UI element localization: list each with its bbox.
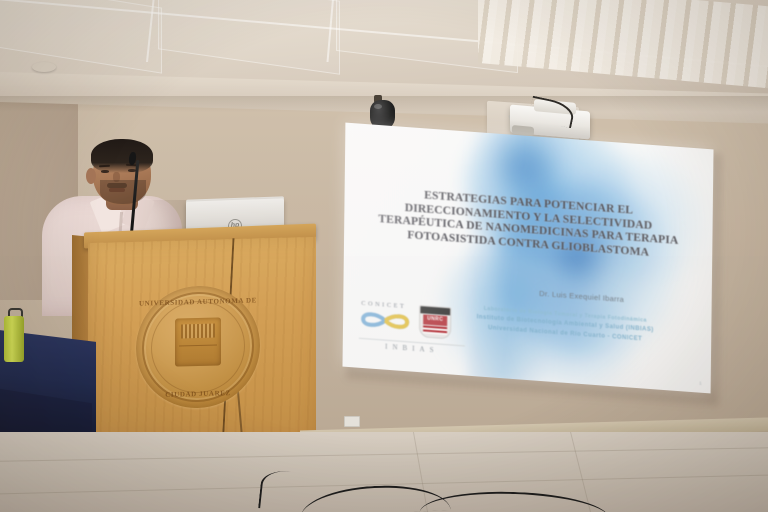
wall-outlet-icon: [344, 416, 360, 427]
shield-stripes: [423, 325, 447, 335]
unrc-shield-icon: UNRC: [419, 305, 451, 339]
corrugated-ceiling-panels: [478, 0, 768, 89]
inbias-wordmark: INBIAS: [359, 341, 465, 357]
floor-tile-line: [0, 447, 768, 461]
speaker-mouth: [109, 188, 125, 192]
seal-emblem-icon: [175, 317, 221, 366]
slide: ESTRATEGIAS PARA POTENCIAR EL DIRECCIONA…: [343, 123, 714, 394]
conicet-infinity-icon: [359, 309, 415, 333]
watercolor-edge: [468, 123, 591, 393]
speaker-hair: [91, 139, 153, 173]
ceiling-tile: [158, 0, 340, 75]
speaker-eye: [101, 170, 109, 173]
university-seal: UNIVERSIDAD AUTONOMA DE CIUDAD JUAREZ: [136, 284, 260, 409]
slide-logos: CONICET UNRC INBIAS: [357, 300, 468, 366]
projection-screen: ESTRATEGIAS PARA POTENCIAR EL DIRECCIONA…: [343, 123, 714, 394]
photo-scene: ESTRATEGIAS PARA POTENCIAR EL DIRECCIONA…: [0, 0, 768, 512]
slide-page-number: 1: [699, 381, 702, 386]
speaker-moustache: [107, 183, 127, 188]
camera-glare: [374, 104, 382, 109]
speaker-ear: [86, 168, 96, 184]
smoke-detector-icon: [32, 62, 56, 72]
fire-extinguisher-icon: [4, 316, 24, 362]
